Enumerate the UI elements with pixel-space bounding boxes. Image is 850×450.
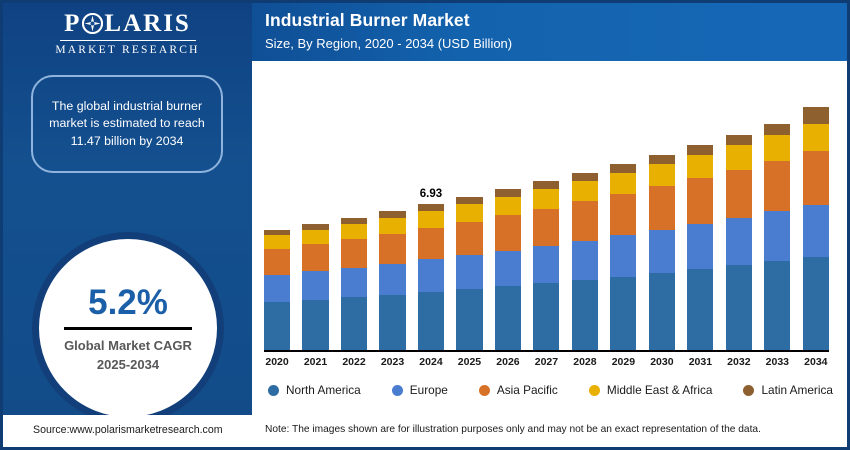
bar-stack: [687, 145, 713, 351]
bar-segment[interactable]: [803, 107, 829, 124]
bar-segment[interactable]: [418, 204, 444, 211]
bar-group: 6.93: [264, 72, 829, 351]
bar-column[interactable]: [341, 72, 367, 351]
legend-label: Middle East & Africa: [607, 383, 713, 397]
bar-segment[interactable]: [341, 239, 367, 268]
bar-segment[interactable]: [726, 135, 752, 145]
page-title: Industrial Burner Market: [265, 10, 847, 32]
bar-segment[interactable]: [764, 261, 790, 351]
bar-column[interactable]: [495, 72, 521, 351]
x-axis-tick-label: 2021: [302, 356, 328, 368]
bar-column[interactable]: [764, 72, 790, 351]
bar-segment[interactable]: [379, 234, 405, 264]
bar-segment[interactable]: [533, 181, 559, 189]
bar-segment[interactable]: [302, 271, 328, 299]
bar-column[interactable]: [456, 72, 482, 351]
x-axis-tick-label: 2030: [649, 356, 675, 368]
bar-segment[interactable]: [726, 145, 752, 169]
bar-segment[interactable]: [418, 211, 444, 228]
bar-segment[interactable]: [649, 273, 675, 351]
bar-segment[interactable]: [649, 164, 675, 186]
bar-stack: [610, 164, 636, 351]
bar-segment[interactable]: [687, 224, 713, 269]
bar-segment[interactable]: [456, 289, 482, 351]
page-subtitle: Size, By Region, 2020 - 2034 (USD Billio…: [265, 36, 847, 53]
callout-text: The global industrial burner market is e…: [43, 98, 211, 151]
legend-item[interactable]: Asia Pacific: [479, 383, 558, 397]
callout-box: The global industrial burner market is e…: [31, 75, 223, 173]
legend-label: Europe: [410, 383, 448, 397]
legend-item[interactable]: Middle East & Africa: [589, 383, 713, 397]
bar-column[interactable]: [803, 72, 829, 351]
legend-label: Latin America: [761, 383, 832, 397]
bar-segment[interactable]: [418, 292, 444, 351]
bar-segment[interactable]: [495, 286, 521, 351]
bar-segment[interactable]: [726, 218, 752, 266]
x-axis-tick-label: 2031: [687, 356, 713, 368]
bar-stack: [803, 107, 829, 351]
x-axis-tick-label: 2029: [610, 356, 636, 368]
legend-item[interactable]: North America: [268, 383, 361, 397]
bar-segment[interactable]: [533, 246, 559, 284]
bar-column[interactable]: [572, 72, 598, 351]
bar-segment[interactable]: [726, 265, 752, 351]
bar-segment[interactable]: [803, 257, 829, 351]
bar-segment[interactable]: [456, 255, 482, 289]
bar-segment[interactable]: [533, 209, 559, 246]
logo-letter-p: P: [64, 10, 81, 37]
bar-column[interactable]: [726, 72, 752, 351]
x-axis-tick-label: 2027: [533, 356, 559, 368]
bar-column[interactable]: 6.93: [418, 72, 444, 351]
bar-segment[interactable]: [456, 222, 482, 255]
bar-segment[interactable]: [764, 124, 790, 135]
bar-column[interactable]: [302, 72, 328, 351]
legend-item[interactable]: Latin America: [743, 383, 832, 397]
legend-item[interactable]: Europe: [392, 383, 448, 397]
cagr-label: Global Market CAGR: [64, 337, 192, 356]
bar-segment[interactable]: [610, 235, 636, 276]
bar-column[interactable]: [264, 72, 290, 351]
header-bar: Industrial Burner Market Size, By Region…: [252, 3, 847, 61]
footer-note: Note: The images shown are for illustrat…: [265, 424, 761, 435]
legend-color-swatch: [268, 385, 279, 396]
bar-segment[interactable]: [610, 173, 636, 194]
logo-letters-laris: LARIS: [104, 10, 190, 37]
bar-segment[interactable]: [687, 145, 713, 155]
plot-region: 6.93: [264, 73, 829, 352]
logo-wordmark: P LARIS: [64, 11, 191, 36]
bar-stack: [726, 135, 752, 351]
footer-bar: Source:www.polarismarketresearch.com Not…: [3, 415, 847, 447]
bar-column[interactable]: [610, 72, 636, 351]
bar-stack: [418, 204, 444, 351]
bar-segment[interactable]: [610, 277, 636, 351]
bar-column[interactable]: [649, 72, 675, 351]
bar-segment[interactable]: [649, 186, 675, 229]
bar-segment[interactable]: [418, 259, 444, 292]
bar-segment[interactable]: [764, 135, 790, 161]
chart-area: 6.93 20202021202220232024202520262027202…: [252, 61, 847, 415]
legend-color-swatch: [743, 385, 754, 396]
bar-segment[interactable]: [803, 151, 829, 205]
bar-stack: [764, 124, 790, 351]
bar-segment[interactable]: [572, 201, 598, 240]
bar-segment[interactable]: [379, 218, 405, 234]
footer-source[interactable]: Source:www.polarismarketresearch.com: [33, 424, 223, 436]
chart-legend: North AmericaEuropeAsia PacificMiddle Ea…: [264, 383, 837, 397]
x-axis-tick-label: 2023: [379, 356, 405, 368]
bar-segment[interactable]: [495, 215, 521, 250]
cagr-years: 2025-2034: [97, 356, 159, 375]
bar-column[interactable]: [379, 72, 405, 351]
bar-segment[interactable]: [302, 230, 328, 245]
bar-segment[interactable]: [610, 164, 636, 173]
x-axis-labels: 2020202120222023202420252026202720282029…: [264, 356, 829, 368]
bar-segment[interactable]: [803, 124, 829, 151]
x-axis-tick-label: 2024: [418, 356, 444, 368]
cagr-badge: 5.2% Global Market CAGR 2025-2034: [32, 232, 224, 424]
bar-segment[interactable]: [264, 302, 290, 351]
x-axis-tick-label: 2032: [726, 356, 752, 368]
polaris-logo: P LARIS MARKET RESEARCH: [3, 11, 252, 56]
legend-color-swatch: [392, 385, 403, 396]
bar-segment[interactable]: [495, 197, 521, 215]
bar-segment[interactable]: [379, 295, 405, 351]
bar-segment[interactable]: [572, 173, 598, 182]
x-axis-line: [264, 350, 829, 352]
x-axis-tick-label: 2033: [764, 356, 790, 368]
bar-segment[interactable]: [302, 244, 328, 271]
bar-segment[interactable]: [572, 241, 598, 281]
bar-segment[interactable]: [341, 224, 367, 239]
x-axis-tick-label: 2025: [456, 356, 482, 368]
bar-stack: [264, 230, 290, 352]
x-axis-tick-label: 2020: [264, 356, 290, 368]
bar-stack: [302, 224, 328, 351]
x-axis-tick-label: 2022: [341, 356, 367, 368]
bar-segment[interactable]: [687, 269, 713, 351]
bar-segment[interactable]: [264, 235, 290, 249]
logo-tagline: MARKET RESEARCH: [3, 44, 252, 56]
legend-color-swatch: [589, 385, 600, 396]
bar-segment[interactable]: [495, 189, 521, 197]
bar-segment[interactable]: [456, 197, 482, 204]
bar-segment[interactable]: [302, 300, 328, 351]
bar-segment[interactable]: [764, 161, 790, 212]
bar-segment[interactable]: [533, 189, 559, 208]
bar-segment[interactable]: [610, 194, 636, 235]
bar-stack: [379, 211, 405, 351]
bar-stack: [456, 197, 482, 351]
x-axis-tick-label: 2034: [803, 356, 829, 368]
bar-segment[interactable]: [764, 211, 790, 261]
bar-stack: [533, 181, 559, 351]
bar-segment[interactable]: [495, 251, 521, 287]
bar-segment[interactable]: [533, 283, 559, 351]
bar-segment[interactable]: [341, 297, 367, 351]
bar-value-label: 6.93: [420, 188, 442, 200]
bar-stack: [649, 155, 675, 352]
bar-segment[interactable]: [649, 230, 675, 273]
legend-label: North America: [286, 383, 361, 397]
bar-segment[interactable]: [649, 155, 675, 165]
bar-segment[interactable]: [687, 155, 713, 178]
bar-column[interactable]: [533, 72, 559, 351]
legend-color-swatch: [479, 385, 490, 396]
bar-segment[interactable]: [379, 264, 405, 295]
bar-column[interactable]: [687, 72, 713, 351]
bar-segment[interactable]: [264, 249, 290, 275]
bar-segment[interactable]: [687, 178, 713, 224]
bar-segment[interactable]: [418, 228, 444, 260]
cagr-value: 5.2%: [88, 285, 168, 320]
bar-segment[interactable]: [572, 280, 598, 351]
bar-segment[interactable]: [803, 205, 829, 257]
bar-segment[interactable]: [572, 181, 598, 201]
compass-star-icon: [82, 13, 103, 34]
bar-stack: [341, 218, 367, 351]
cagr-divider: [64, 327, 192, 330]
infographic-root: P LARIS MARKET RESEARCH The global indus…: [0, 0, 850, 450]
bar-segment[interactable]: [341, 268, 367, 298]
bar-segment[interactable]: [264, 275, 290, 302]
x-axis-tick-label: 2028: [572, 356, 598, 368]
bar-segment[interactable]: [726, 170, 752, 218]
bar-stack: [495, 189, 521, 351]
legend-label: Asia Pacific: [497, 383, 558, 397]
x-axis-tick-label: 2026: [495, 356, 521, 368]
bar-stack: [572, 173, 598, 351]
logo-divider: [60, 40, 196, 41]
bar-segment[interactable]: [456, 204, 482, 222]
